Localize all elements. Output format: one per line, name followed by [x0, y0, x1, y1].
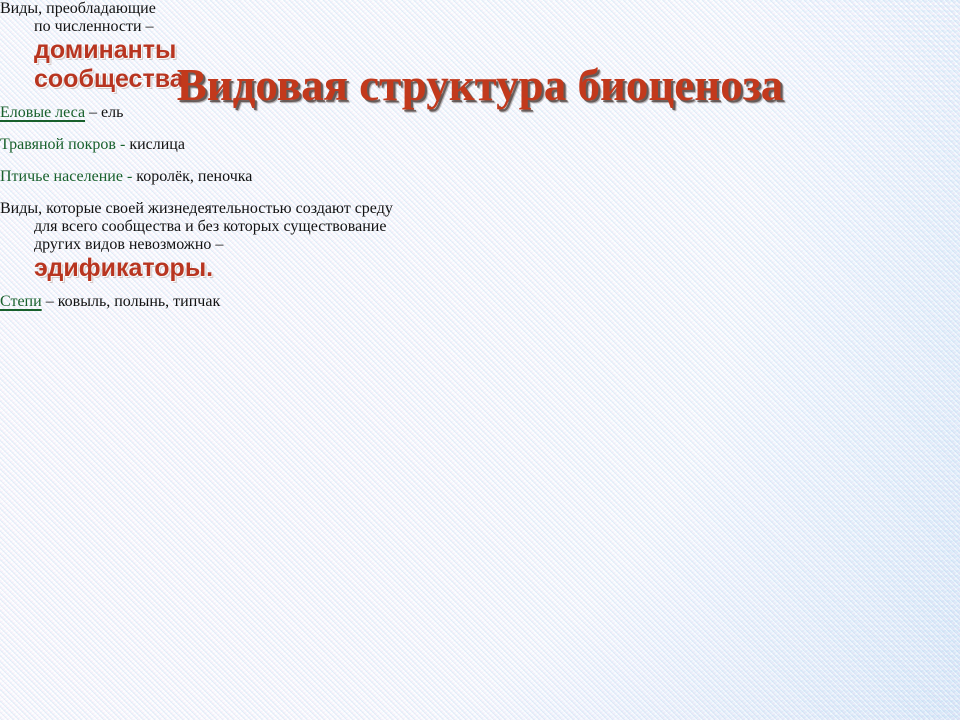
habitat-label-herb-layer: Травяной покров: [0, 136, 116, 153]
example-bird-population: Птичье население - королёк, пеночка: [0, 168, 400, 186]
example-steppe: Степи – ковыль, полынь, типчак: [0, 293, 420, 311]
habitat-label-steppe: Степи: [0, 293, 42, 310]
habitat-label-bird-population: Птичье население: [0, 168, 123, 185]
edificators-definition-body: Виды, которые своей жизнедеятельностью с…: [0, 200, 393, 253]
dominants-definition-line2: по численности –: [34, 18, 154, 35]
species-bird-population: королёк, пеночка: [136, 168, 252, 185]
separator-bird-population: -: [123, 168, 136, 185]
edificators-definition: Виды, которые своей жизнедеятельностью с…: [0, 200, 420, 283]
species-steppe: ковыль, полынь, типчак: [58, 293, 221, 310]
right-column: Виды, которые своей жизнедеятельностью с…: [0, 200, 420, 311]
slide-content: Видовая структура биоценоза Виды, преобл…: [0, 0, 960, 720]
example-herb-layer: Травяной покров - кислица: [0, 136, 400, 154]
dominants-definition-line1: Виды, преобладающие: [0, 0, 156, 17]
slide-canvas: Видовая структура биоценоза Виды, преобл…: [0, 0, 960, 720]
slide-title: Видовая структура биоценоза: [0, 62, 960, 109]
species-herb-layer: кислица: [129, 136, 185, 153]
separator-herb-layer: -: [116, 136, 129, 153]
edificators-term: эдификаторы.: [34, 254, 420, 283]
separator-steppe: –: [42, 293, 58, 310]
